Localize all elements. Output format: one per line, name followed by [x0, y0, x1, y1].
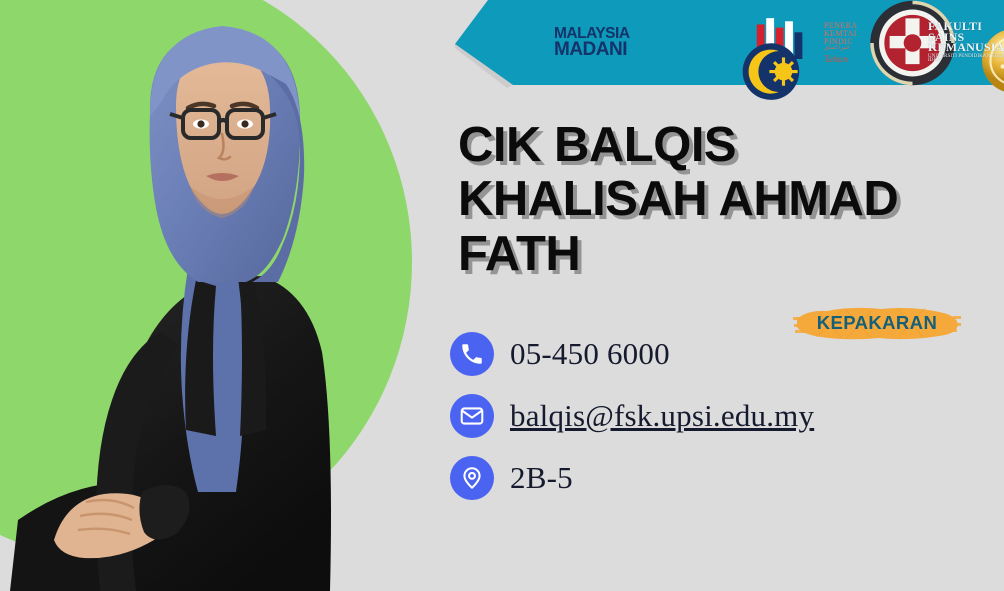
contact-list: 05-450 6000 balqis@fsk.upsi.edu.my 2B-5	[450, 330, 970, 516]
header-banner: MALAYSIA MADANI UNIVERSITI	[455, 0, 1004, 88]
anugerah-medal-logo: PENERA KEMTAI PINDIC ڤنيرا كمتاي Tahun	[760, 12, 870, 74]
fsk-sub: UNIVERSITI PENDIDIKAN SULTAN IDRIS	[928, 55, 1004, 64]
madani-mark-icon	[498, 15, 550, 71]
portrait-photo	[0, 0, 440, 591]
staff-profile-card: MALAYSIA MADANI UNIVERSITI	[0, 0, 1004, 591]
envelope-icon	[450, 394, 494, 438]
email-address[interactable]: balqis@fsk.upsi.edu.my	[510, 398, 814, 434]
upsi-logo: UNIVERSITI PENDIDIKAN SULTAN IDRIS اونيؤ…	[638, 12, 750, 74]
medal-icons	[760, 17, 822, 69]
kepakaran-label: KEPAKARAN	[793, 303, 961, 343]
room-number: 2B-5	[510, 460, 573, 496]
kepakaran-badge[interactable]: KEPAKARAN	[793, 303, 961, 343]
fsk-logo: FSK FAKULTI SAINS KEMANUSIAAN UNIVERSITI…	[880, 12, 998, 74]
contact-row-room[interactable]: 2B-5	[450, 454, 970, 502]
page-title: CIK BALQIS KHALISAH AHMAD FATH	[458, 118, 970, 281]
fsk-line3: KEMANUSIAAN	[928, 42, 1004, 53]
location-pin-icon	[450, 456, 494, 500]
malaysia-madani-logo: MALAYSIA MADANI	[498, 12, 628, 74]
phone-number: 05-450 6000	[510, 336, 670, 372]
profile-content: CIK BALQIS KHALISAH AHMAD FATH	[458, 118, 992, 281]
fsk-wordmark: FAKULTI SAINS KEMANUSIAAN UNIVERSITI PEN…	[928, 21, 1004, 63]
phone-icon	[450, 332, 494, 376]
contact-row-email[interactable]: balqis@fsk.upsi.edu.my	[450, 392, 970, 440]
